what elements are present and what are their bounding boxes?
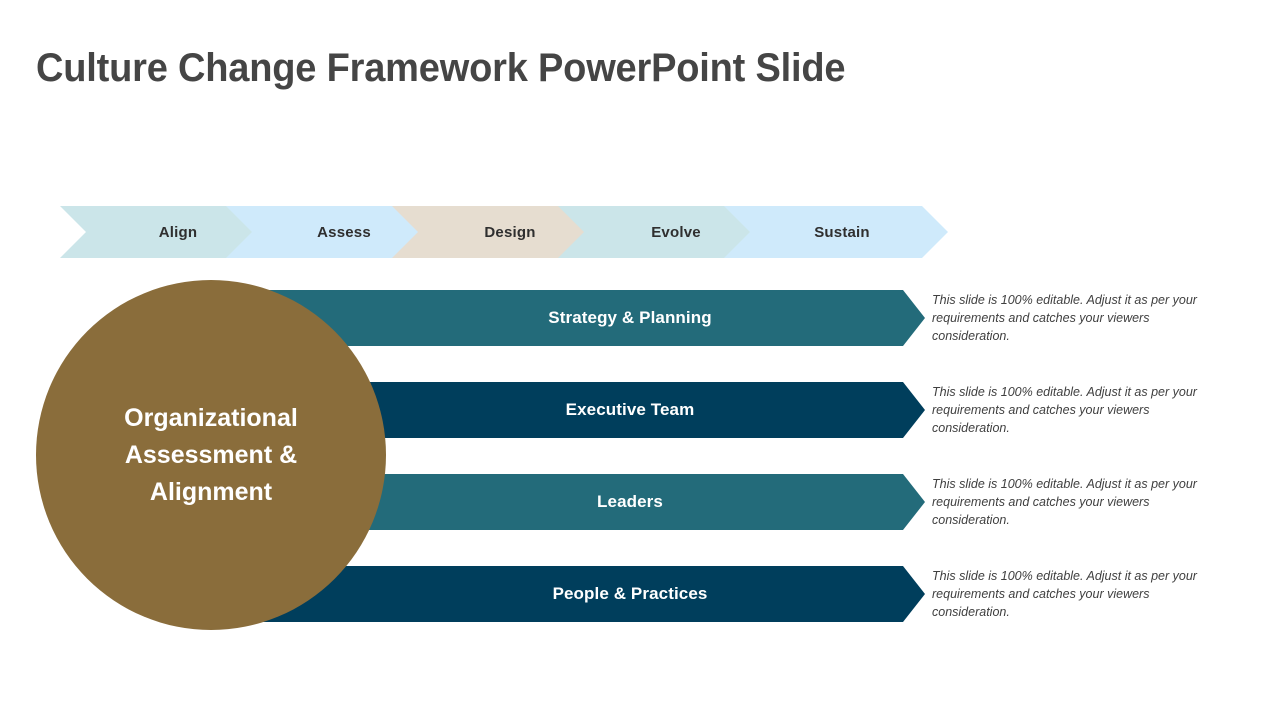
stage-label-sustain: Sustain: [814, 224, 870, 241]
row-label-leaders: Leaders: [410, 492, 850, 512]
row-note-leaders: This slide is 100% editable. Adjust it a…: [932, 476, 1220, 529]
row-note-executive-team: This slide is 100% editable. Adjust it a…: [932, 384, 1220, 437]
stage-label-evolve: Evolve: [651, 224, 701, 241]
row-label-executive-team: Executive Team: [410, 400, 850, 420]
row-note-strategy-planning: This slide is 100% editable. Adjust it a…: [932, 292, 1220, 345]
row-label-strategy-planning: Strategy & Planning: [410, 308, 850, 328]
focus-circle[interactable]: Organizational Assessment & Alignment: [36, 280, 386, 630]
page-title: Culture Change Framework PowerPoint Slid…: [36, 46, 845, 91]
row-label-people-practices: People & Practices: [410, 584, 850, 604]
focus-circle-label: Organizational Assessment & Alignment: [96, 400, 326, 511]
stage-chevron-row: Align Assess Design Evolve Sustain: [78, 206, 918, 258]
stage-label-align: Align: [159, 224, 198, 241]
row-note-people-practices: This slide is 100% editable. Adjust it a…: [932, 568, 1220, 621]
stage-chevron-sustain[interactable]: Sustain: [724, 206, 948, 258]
stage-label-design: Design: [484, 224, 535, 241]
slide-canvas: Culture Change Framework PowerPoint Slid…: [0, 0, 1280, 720]
stage-label-assess: Assess: [317, 224, 371, 241]
